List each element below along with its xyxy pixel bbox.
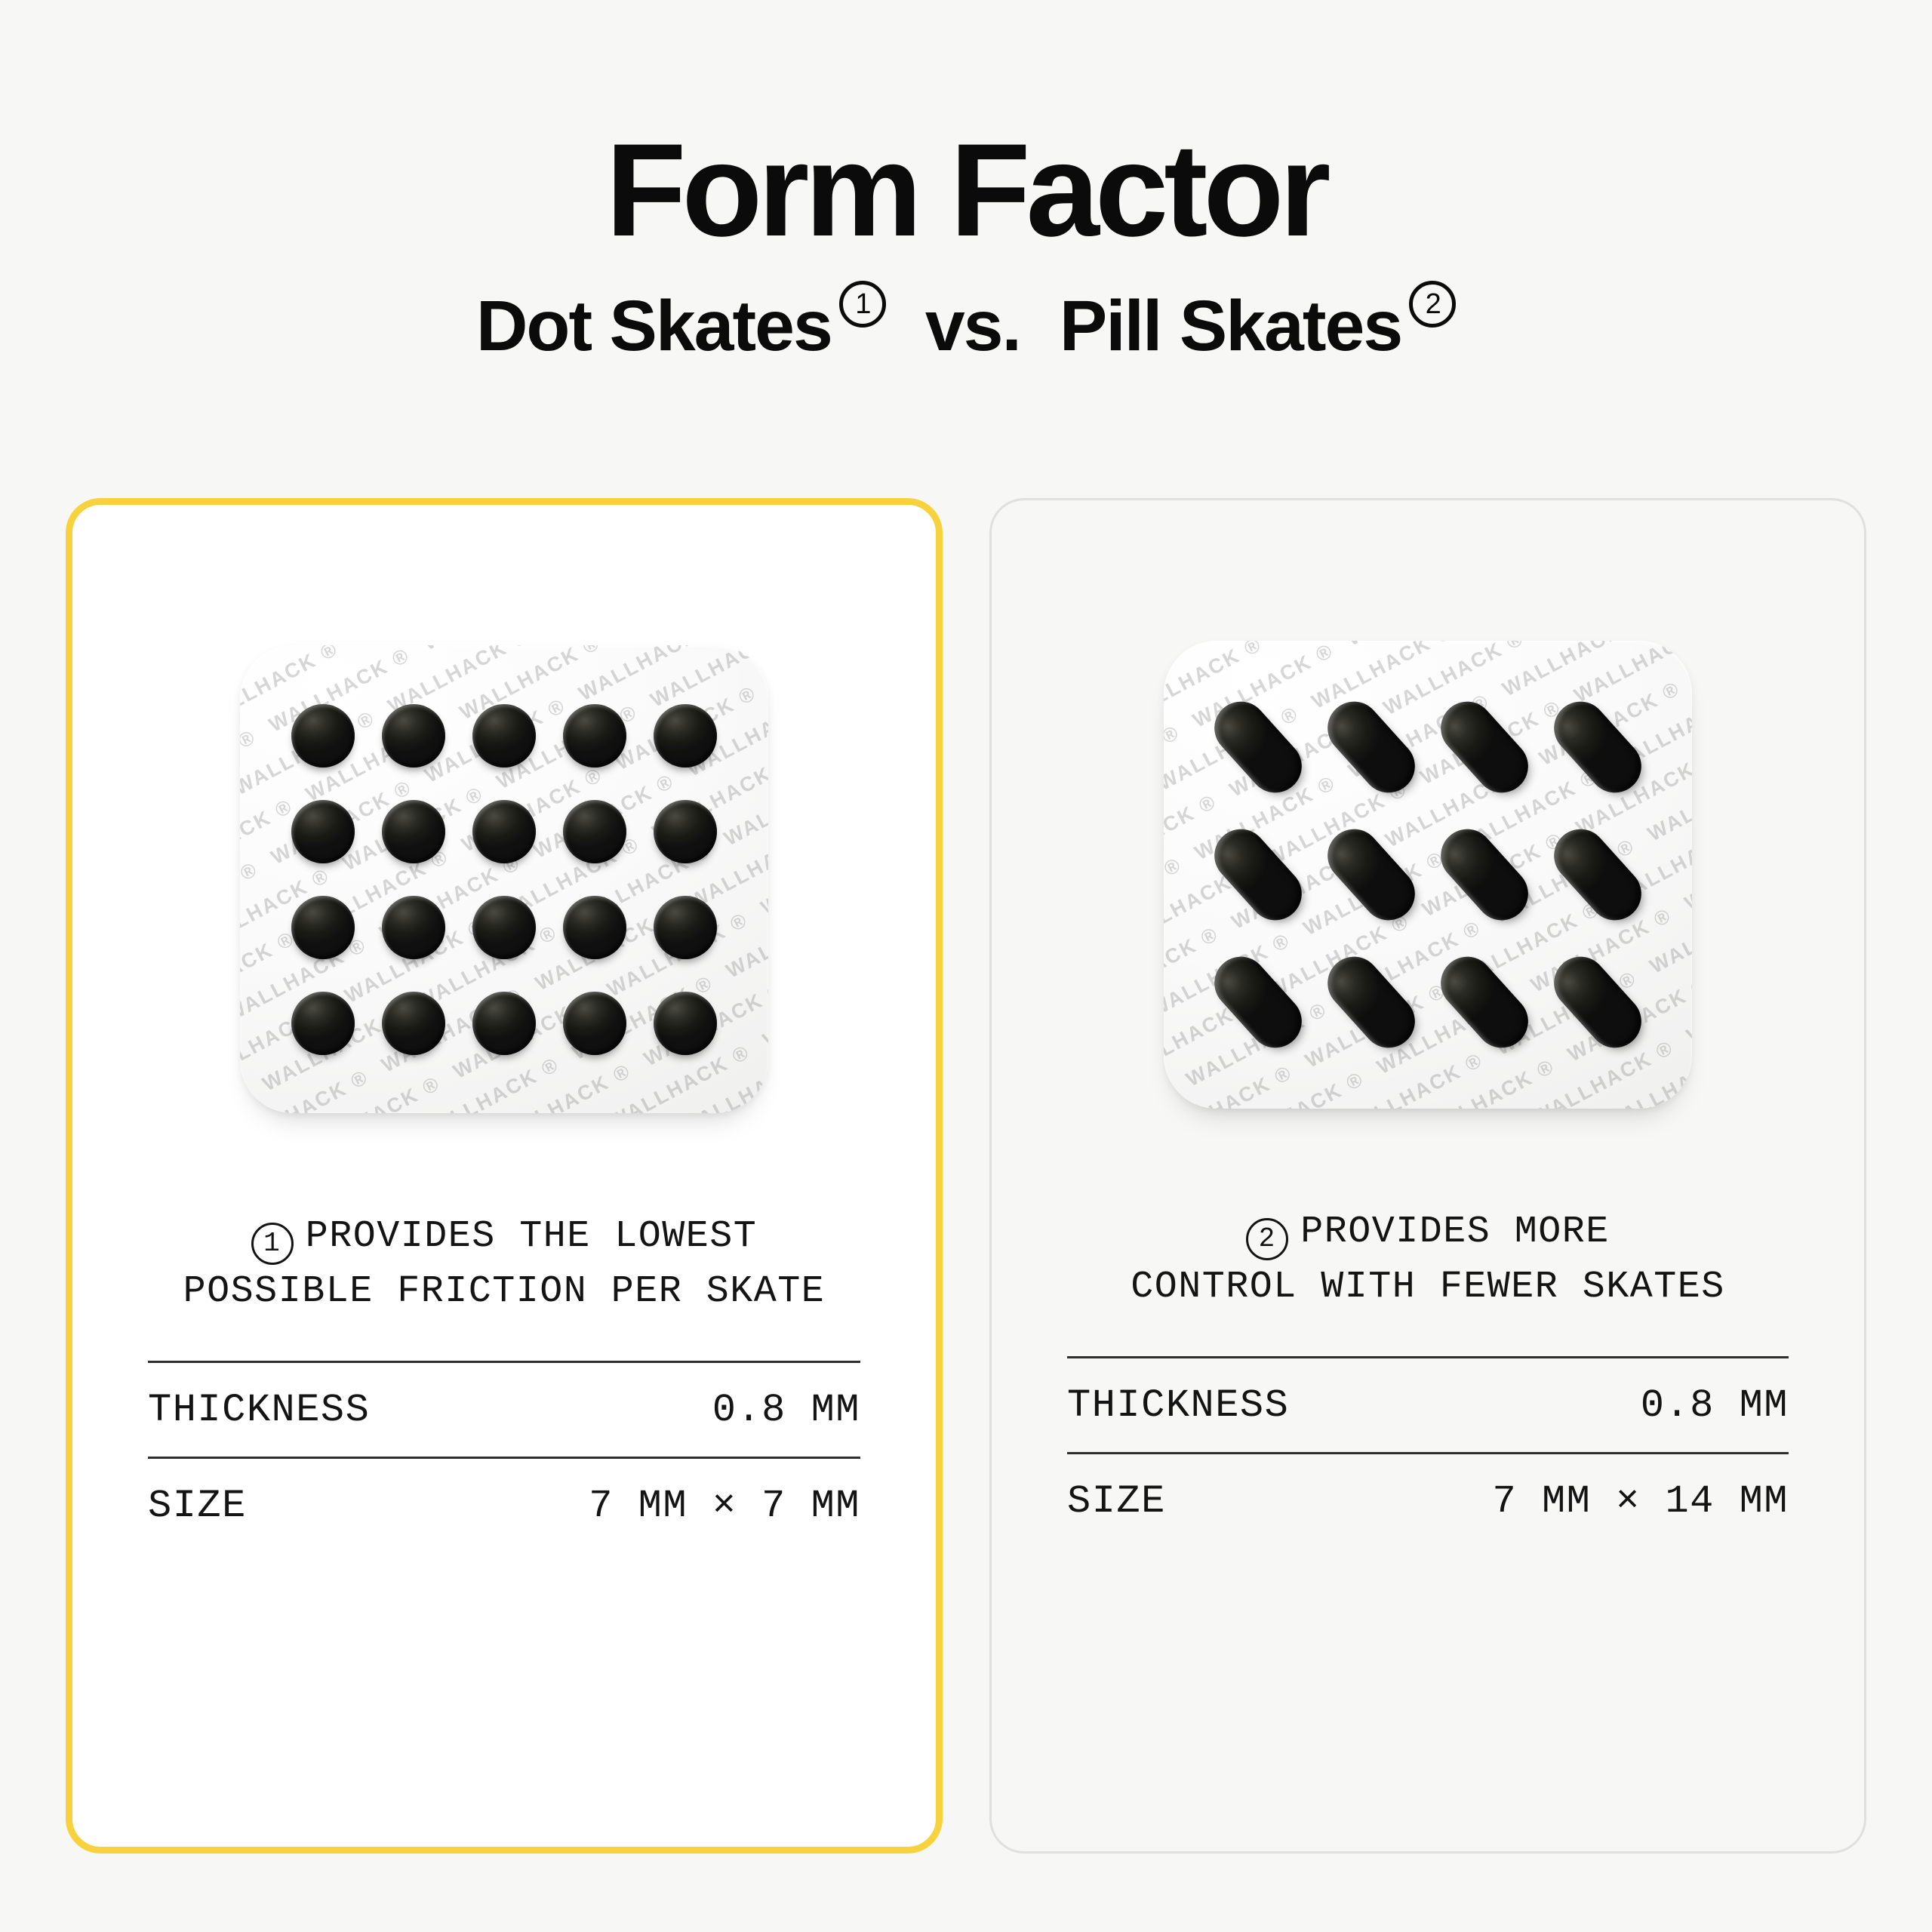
spec-label-thickness: THICKNESS (148, 1388, 370, 1432)
dot-skate (654, 704, 717, 768)
spec-row-size: SIZE 7 MM × 7 MM (148, 1459, 860, 1552)
caption-text-line-2: CONTROL WITH FEWER SKATES (1067, 1260, 1789, 1314)
pill-skate (1430, 818, 1539, 931)
pill-skate (1430, 946, 1539, 1059)
caption-text-line-1: PROVIDES THE LOWEST (306, 1215, 758, 1258)
card-dot-skates[interactable]: WALLHACK ®WALLHACK ®WALLHACK ®WALLHACK ®… (66, 498, 943, 1854)
pill-skates-sheet: WALLHACK ®WALLHACK ®WALLHACK ®WALLHACK ®… (1164, 641, 1692, 1109)
pill-skate (1543, 818, 1652, 931)
spec-label-thickness: THICKNESS (1067, 1383, 1289, 1428)
dot-skate (382, 992, 445, 1055)
comparison-cards: WALLHACK ®WALLHACK ®WALLHACK ®WALLHACK ®… (0, 498, 1932, 1854)
dot-skate (563, 992, 626, 1055)
dot-skate (654, 992, 717, 1055)
pill-skate (1430, 691, 1539, 803)
pill-skate (1543, 691, 1652, 803)
pill-skates-grid (1164, 641, 1692, 1109)
pill-skate (1543, 946, 1652, 1059)
specs-table-dot-skates: THICKNESS 0.8 MM SIZE 7 MM × 7 MM (148, 1361, 860, 1552)
pill-skate (1204, 946, 1312, 1059)
card-pill-skates[interactable]: WALLHACK ®WALLHACK ®WALLHACK ®WALLHACK ®… (989, 498, 1866, 1854)
dot-skate (563, 704, 626, 768)
spec-label-size: SIZE (148, 1484, 247, 1528)
caption-line-1: 1PROVIDES THE LOWEST (148, 1210, 860, 1265)
spec-value-size: 7 MM × 7 MM (589, 1484, 860, 1528)
pill-skate (1317, 691, 1426, 803)
dot-skate (472, 800, 536, 863)
dot-skate (382, 800, 445, 863)
subtitle-label-pill-skates: Pill Skates (1060, 285, 1401, 368)
spec-label-size: SIZE (1067, 1479, 1166, 1524)
subtitle-option-pill-skates: Pill Skates 2 (1060, 285, 1456, 368)
dot-skate (472, 896, 536, 959)
circled-number-1-icon: 1 (839, 281, 886, 328)
spec-row-size: SIZE 7 MM × 14 MM (1067, 1454, 1789, 1548)
product-image-pill-skates: WALLHACK ®WALLHACK ®WALLHACK ®WALLHACK ®… (1067, 573, 1789, 1177)
subtitle-label-dot-skates: Dot Skates (476, 285, 832, 368)
caption-line-1: 2PROVIDES MORE (1067, 1205, 1789, 1260)
page-header: Form Factor Dot Skates 1 vs. Pill Skates… (0, 0, 1932, 368)
dot-skate (654, 896, 717, 959)
dot-skate (472, 704, 536, 768)
product-image-dot-skates: WALLHACK ®WALLHACK ®WALLHACK ®WALLHACK ®… (148, 577, 860, 1181)
specs-table-pill-skates: THICKNESS 0.8 MM SIZE 7 MM × 14 MM (1067, 1356, 1789, 1548)
pill-skate (1204, 818, 1312, 931)
circled-number-1-icon: 1 (251, 1223, 294, 1265)
caption-text-line-2: POSSIBLE FRICTION PER SKATE (148, 1265, 860, 1318)
dot-skate (291, 992, 355, 1055)
pill-skate (1204, 691, 1312, 803)
page-subtitle: Dot Skates 1 vs. Pill Skates 2 (0, 285, 1932, 368)
dot-skate (472, 992, 536, 1055)
pill-skate (1317, 946, 1426, 1059)
subtitle-option-dot-skates: Dot Skates 1 (476, 285, 886, 368)
spec-row-thickness: THICKNESS 0.8 MM (1067, 1358, 1789, 1452)
spec-row-thickness: THICKNESS 0.8 MM (148, 1363, 860, 1457)
dot-skate (563, 896, 626, 959)
dot-skate (291, 896, 355, 959)
circled-number-2-icon: 2 (1246, 1218, 1288, 1260)
spec-value-thickness: 0.8 MM (1641, 1383, 1789, 1428)
circled-number-2-icon: 2 (1409, 281, 1456, 328)
spec-value-size: 7 MM × 14 MM (1493, 1479, 1789, 1524)
dot-skate (654, 800, 717, 863)
dot-skate (563, 800, 626, 863)
pill-skate (1317, 818, 1426, 931)
dot-skate (382, 896, 445, 959)
page-title: Form Factor (0, 128, 1932, 254)
dot-skate (291, 800, 355, 863)
subtitle-vs-separator: vs. (925, 285, 1020, 368)
caption-pill-skates: 2PROVIDES MORE CONTROL WITH FEWER SKATES (1067, 1205, 1789, 1314)
dot-skate (291, 704, 355, 768)
form-factor-comparison-page: Form Factor Dot Skates 1 vs. Pill Skates… (0, 0, 1932, 1932)
caption-text-line-1: PROVIDES MORE (1300, 1211, 1610, 1254)
dot-skate (382, 704, 445, 768)
dot-skates-grid (240, 645, 768, 1113)
dot-skates-sheet: WALLHACK ®WALLHACK ®WALLHACK ®WALLHACK ®… (240, 645, 768, 1113)
caption-dot-skates: 1PROVIDES THE LOWEST POSSIBLE FRICTION P… (148, 1210, 860, 1318)
spec-value-thickness: 0.8 MM (712, 1388, 860, 1432)
